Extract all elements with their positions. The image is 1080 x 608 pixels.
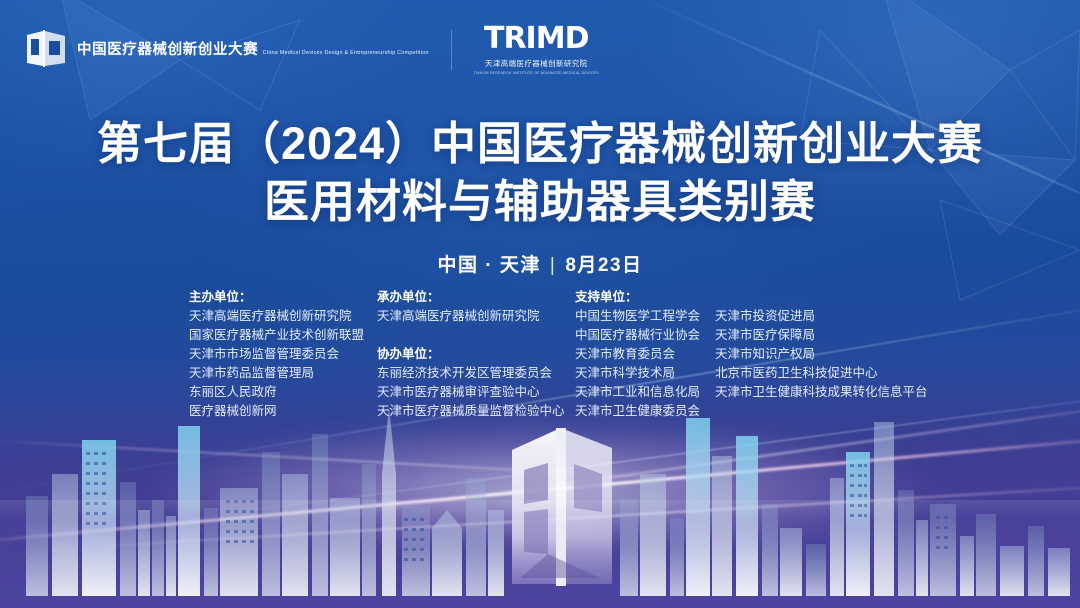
organizer-item: 天津市医疗器械质量监督检验中心 [377,402,557,421]
competition-logo-title-en: China Medical Devices Design & Entrepren… [263,50,429,56]
competition-logo: 中国医疗器械创新创业大赛 China Medical Devices Desig… [24,30,429,70]
organizer-item: 天津市教育委员会 [575,345,707,364]
organizer-column-undertaker: 承办单位： 天津高端医疗器械创新研究院 协办单位： 东丽经济技术开发区管理委员会… [377,288,557,421]
center-glow [151,418,929,538]
main-title-line1: 第七届（2024）中国医疗器械创新创业大赛 [0,118,1080,170]
open-door-book-icon [24,30,68,70]
header-logos: 中国医疗器械创新创业大赛 China Medical Devices Desig… [24,24,599,75]
institute-title-cn: 天津高端医疗器械创新研究院 [474,58,599,69]
light-streak-pink [0,439,734,483]
poster-canvas: 中国医疗器械创新创业大赛 China Medical Devices Desig… [0,0,1080,608]
logo-divider [451,30,452,70]
event-date: 8月23日 [565,255,642,276]
organizer-item: 国家医疗器械产业技术创新联盟 [189,326,359,345]
organizer-item: 东丽经济技术开发区管理委员会 [377,364,557,383]
organizer-item: 天津高端医疗器械创新研究院 [377,307,557,326]
column-heading: 承办单位： [377,288,557,307]
light-streak-pink [0,432,1080,545]
organizer-column-supporters-a: 支持单位： 中国生物医学工程学会 中国医疗器械行业协会 天津市教育委员会 天津市… [575,288,707,421]
date-separator: | [550,255,556,277]
institute-logo: TRIMD 天津高端医疗器械创新研究院 TIANJIN RESEARCH INS… [474,24,599,75]
organizer-item: 天津市市场监督管理委员会 [189,345,359,364]
organizer-columns: 主办单位： 天津高端医疗器械创新研究院 国家医疗器械产业技术创新联盟 天津市市场… [189,288,925,421]
main-title-line2: 医用材料与辅助器具类别赛 [0,176,1080,228]
organizer-item: 北京市医药卫生科技促进中心 [715,364,925,383]
column-heading: 主办单位： [189,288,359,307]
organizer-item: 天津市卫生健康科技成果转化信息平台 [715,383,925,402]
organizer-item: 天津市药品监督管理局 [189,364,359,383]
organizer-item: 中国医疗器械行业协会 [575,326,707,345]
organizer-item: 医疗器械创新网 [189,402,359,421]
organizer-column-host: 主办单位： 天津高端医疗器械创新研究院 国家医疗器械产业技术创新联盟 天津市市场… [189,288,359,421]
organizer-item: 天津市科学技术局 [575,364,707,383]
organizer-item: 东丽区人民政府 [189,383,359,402]
competition-logo-title-cn: 中国医疗器械创新创业大赛 [77,42,258,58]
institute-title-en: TIANJIN RESEARCH INSTITUTE OF ADVANCED M… [474,71,599,75]
organizer-item: 天津市医疗器械审评查验中心 [377,383,557,402]
organizer-item: 中国生物医学工程学会 [575,307,707,326]
organizer-item: 天津高端医疗器械创新研究院 [189,307,359,326]
column-heading-secondary: 协办单位： [377,345,557,364]
organizer-item: 天津市卫生健康委员会 [575,402,707,421]
organizer-column-supporters-b: 天津市投资促进局 天津市医疗保障局 天津市知识产权局 北京市医药卫生科技促进中心… [715,288,925,421]
organizer-item: 天津市工业和信息化局 [575,383,707,402]
event-location: 中国 · 天津 [437,255,540,276]
ground-glow [0,500,1080,608]
title-block: 第七届（2024）中国医疗器械创新创业大赛 医用材料与辅助器具类别赛 中国 · … [0,118,1080,277]
organizer-item: 天津市知识产权局 [715,345,925,364]
light-streak-pink [66,481,1080,550]
organizer-item: 天津市投资促进局 [715,307,925,326]
event-date-line: 中国 · 天津|8月23日 [0,250,1080,277]
column-spacer [377,326,557,345]
column-heading: 支持单位： [575,288,707,307]
organizer-item: 天津市医疗保障局 [715,326,925,345]
institute-wordmark: TRIMD [474,24,599,54]
